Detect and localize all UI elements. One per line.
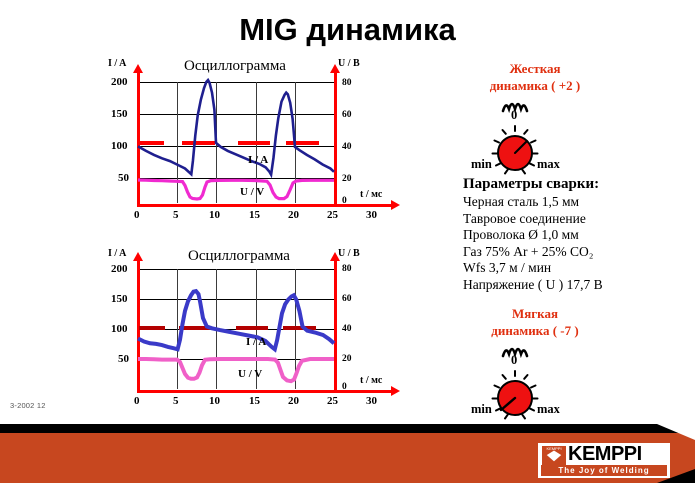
kemppi-logo: KEMPPI KEMPPI The Joy of Welding bbox=[538, 443, 670, 478]
hard-knob-max-label: max bbox=[537, 157, 560, 172]
chart2-x-axis-name: t / мс bbox=[360, 375, 382, 386]
chart1-xtick-15: 15 bbox=[249, 209, 260, 221]
chart2-xtick-10: 10 bbox=[209, 395, 220, 407]
chart1-xtick-5: 5 bbox=[173, 209, 179, 221]
chart1-xtick-30: 30 bbox=[366, 209, 377, 221]
welding-parameter-item: Газ 75% Ar + 25% CO₂ bbox=[463, 244, 688, 261]
knob-graphic bbox=[475, 340, 595, 426]
chart2-ytick-150: 150 bbox=[111, 293, 128, 305]
chart2-ytick-100: 100 bbox=[111, 323, 128, 335]
chart1-voltage-curve bbox=[138, 180, 334, 199]
chart2-series-label-voltage: U / V bbox=[238, 368, 262, 380]
hard-knob-min-label: min bbox=[471, 157, 492, 172]
hard-dynamics-knob[interactable]: 0 min max bbox=[475, 95, 595, 181]
chart1-xtick-20: 20 bbox=[288, 209, 299, 221]
svg-text:KEMPPI: KEMPPI bbox=[546, 446, 561, 451]
chart2-y2tick-20: 20 bbox=[342, 354, 352, 364]
chart1-series-label-voltage: U / V bbox=[240, 186, 264, 198]
kemppi-tagline: The Joy of Welding bbox=[541, 465, 667, 476]
page-title: MIG динамика bbox=[0, 12, 695, 48]
chart2-curves bbox=[108, 248, 408, 416]
chart1-y2tick-0: 0 bbox=[342, 196, 347, 206]
footer-corner-cut-top bbox=[657, 424, 695, 440]
chart1-y2tick-80: 80 bbox=[342, 78, 352, 88]
hard-dynamics-line2: динамика ( +2 ) bbox=[435, 77, 635, 94]
chart2-y2tick-0: 0 bbox=[342, 382, 347, 392]
soft-dynamics-heading: Мягкая динамика ( -7 ) bbox=[435, 305, 635, 339]
slide-footnote: 3-2002 12 bbox=[10, 401, 46, 410]
hard-dynamics-heading: Жесткая динамика ( +2 ) bbox=[435, 60, 635, 94]
chart2-y2tick-40: 40 bbox=[342, 324, 352, 334]
chart1-series-label-current: I / A bbox=[248, 154, 268, 166]
soft-knob-zero-label: 0 bbox=[511, 353, 517, 368]
chart2-xtick-30: 30 bbox=[366, 395, 377, 407]
kemppi-diamond-icon: KEMPPI bbox=[542, 446, 566, 465]
chart2-xtick-20: 20 bbox=[288, 395, 299, 407]
hard-dynamics-line1: Жесткая bbox=[435, 60, 635, 77]
soft-dynamics-knob[interactable]: 0 min max bbox=[475, 340, 595, 426]
chart1-y2tick-20: 20 bbox=[342, 174, 352, 184]
chart2-series-label-current: I / A bbox=[246, 336, 266, 348]
chart2-xtick-15: 15 bbox=[249, 395, 260, 407]
chart1-y2tick-60: 60 bbox=[342, 110, 352, 120]
welding-parameter-item: Тавровое соединение bbox=[463, 211, 688, 228]
chart2-y2tick-80: 80 bbox=[342, 264, 352, 274]
soft-knob-max-label: max bbox=[537, 402, 560, 417]
footer-black-band bbox=[0, 424, 695, 433]
chart1-ytick-200: 200 bbox=[111, 76, 128, 88]
chart1-xtick-10: 10 bbox=[209, 209, 220, 221]
chart2-voltage-curve bbox=[138, 359, 334, 381]
welding-parameter-item: Wfs 3,7 м / мин bbox=[463, 260, 688, 277]
chart2-xtick-0: 0 bbox=[134, 395, 140, 407]
chart2-xtick-5: 5 bbox=[173, 395, 179, 407]
chart2-y2tick-60: 60 bbox=[342, 294, 352, 304]
chart2-current-curve bbox=[138, 291, 334, 349]
welding-parameters: Параметры сварки: Черная сталь 1,5 мм Та… bbox=[463, 176, 688, 294]
welding-parameter-item: Напряжение ( U ) 17,7 B bbox=[463, 277, 688, 294]
chart1-xtick-0: 0 bbox=[134, 209, 140, 221]
chart1-ytick-100: 100 bbox=[111, 140, 128, 152]
welding-parameter-item: Проволока Ø 1,0 мм bbox=[463, 227, 688, 244]
chart2-ytick-50: 50 bbox=[118, 353, 129, 365]
chart1-ytick-50: 50 bbox=[118, 172, 129, 184]
soft-dynamics-line2: динамика ( -7 ) bbox=[435, 322, 635, 339]
knob-graphic bbox=[475, 95, 595, 181]
chart1-current-curve bbox=[138, 80, 334, 175]
welding-parameters-heading: Параметры сварки: bbox=[463, 176, 688, 193]
chart1-curves bbox=[108, 58, 408, 226]
soft-knob-min-label: min bbox=[471, 402, 492, 417]
chart2-ytick-200: 200 bbox=[111, 263, 128, 275]
welding-parameter-item: Черная сталь 1,5 мм bbox=[463, 194, 688, 211]
chart1-xtick-25: 25 bbox=[327, 209, 338, 221]
chart1-ytick-150: 150 bbox=[111, 108, 128, 120]
soft-dynamics-line1: Мягкая bbox=[435, 305, 635, 322]
chart1-y2tick-40: 40 bbox=[342, 142, 352, 152]
diamond-icon: KEMPPI bbox=[542, 446, 566, 465]
chart1-x-axis-name: t / мс bbox=[360, 189, 382, 200]
hard-knob-zero-label: 0 bbox=[511, 108, 517, 123]
chart-soft-dynamics: I / A U / B Осциллограмма I / A U / V 20… bbox=[108, 248, 408, 416]
chart-hard-dynamics: I / A U / B Осциллограмма I / A U / V bbox=[108, 58, 408, 226]
slide: MIG динамика I / A U / B Осциллограмма bbox=[0, 0, 695, 483]
chart2-xtick-25: 25 bbox=[327, 395, 338, 407]
kemppi-wordmark: KEMPPI bbox=[568, 443, 642, 466]
